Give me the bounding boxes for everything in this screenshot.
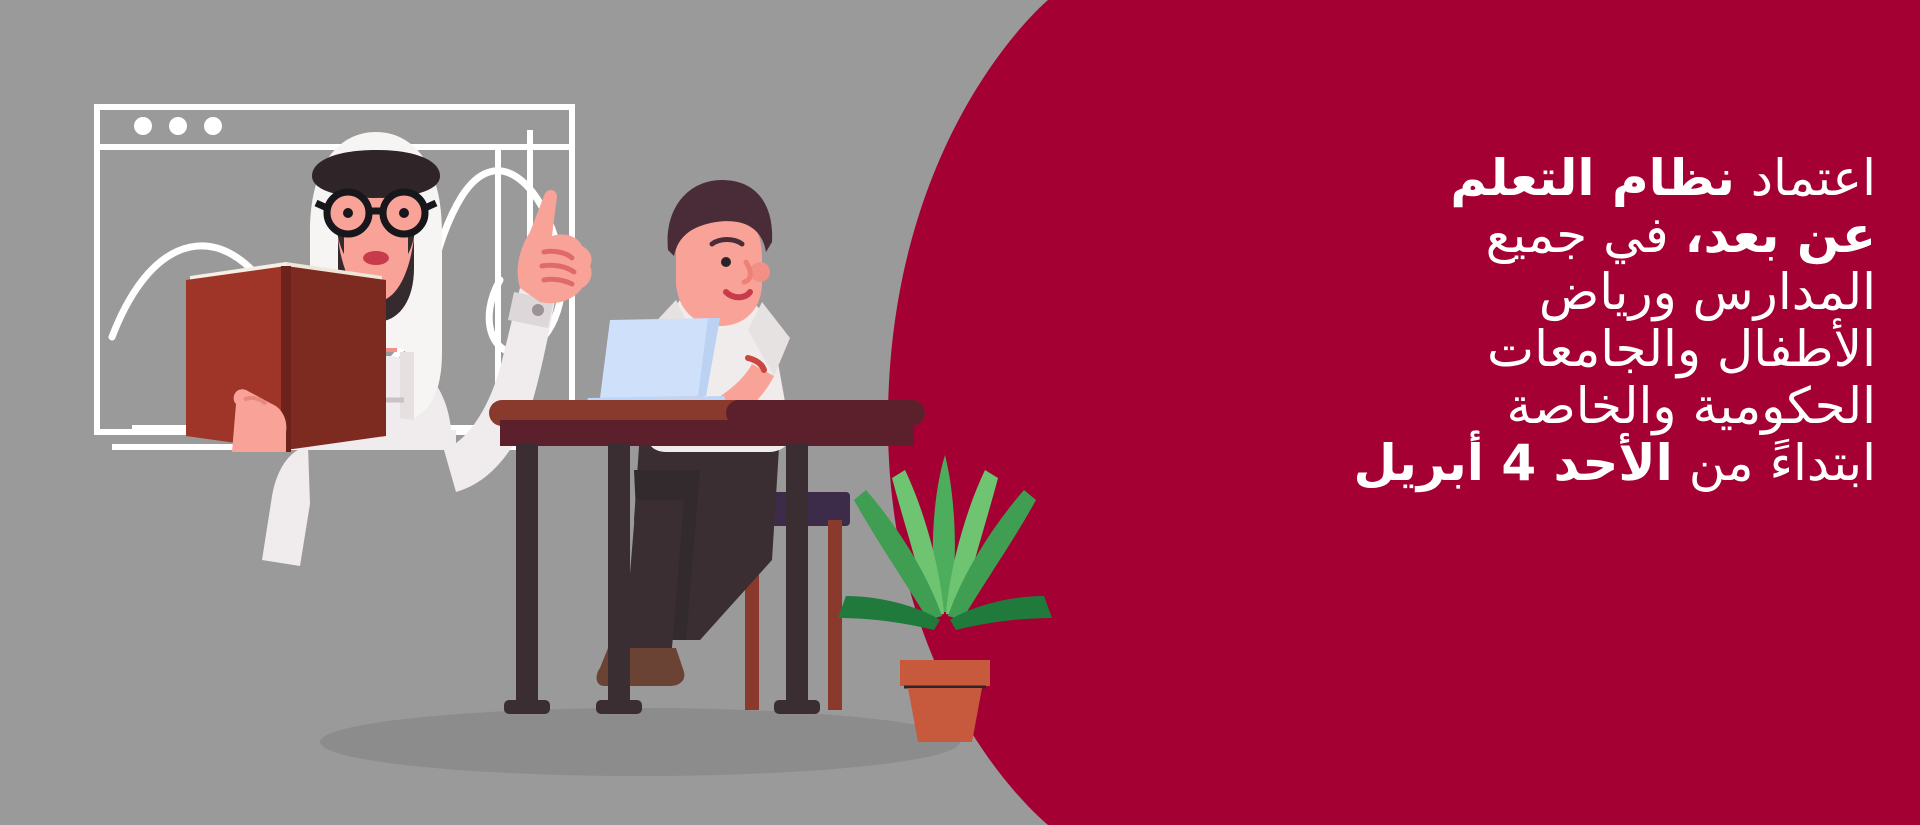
headline-line-6: ابتداءً من الأحد 4 أبريل [1116, 435, 1876, 492]
desk-apron [500, 420, 914, 446]
laptop [584, 318, 730, 414]
headline: اعتماد نظام التعلم عن بعد، في جميع المدا… [1116, 150, 1876, 492]
plant-pot [908, 688, 982, 742]
window-dot-1 [134, 117, 152, 135]
headline-line-2: عن بعد، في جميع [1116, 207, 1876, 264]
floor-shadow [320, 708, 960, 776]
desk-leg-left [516, 444, 538, 710]
headline-line-1: اعتماد نظام التعلم [1116, 150, 1876, 207]
agal-band [312, 150, 440, 198]
teacher-mouth [363, 251, 389, 265]
distance-learning-illustration [0, 0, 1100, 825]
desk-leg-right [786, 444, 808, 710]
headline-line-4: الأطفال والجامعات [1116, 321, 1876, 378]
headline-line-3: المدارس ورياض [1116, 264, 1876, 321]
window-dot-2 [169, 117, 187, 135]
teacher-left-arm [262, 446, 310, 566]
potted-plant [838, 455, 1052, 742]
student-eye [721, 257, 731, 267]
window-dot-3 [204, 117, 222, 135]
banner-root: اعتماد نظام التعلم عن بعد، في جميع المدا… [0, 0, 1920, 825]
headline-line-5: الحكومية والخاصة [1116, 378, 1876, 435]
desk-leg-mid [608, 444, 630, 710]
